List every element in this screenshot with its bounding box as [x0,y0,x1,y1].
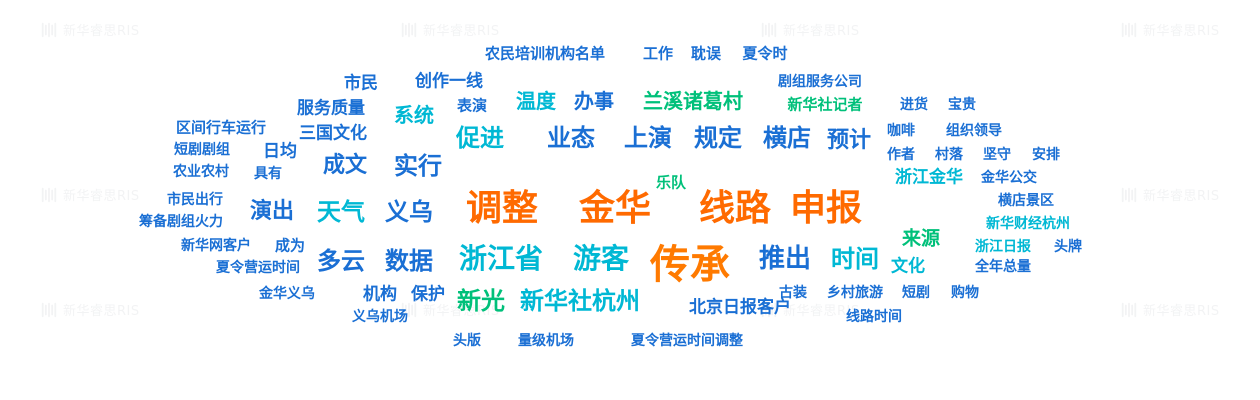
watermark-text: 新华睿思RIS [783,24,860,39]
word-cloud-term[interactable]: 组织领导 [946,124,1002,138]
word-cloud-term[interactable]: 数据 [385,249,433,273]
watermark-mark-icon [40,301,58,319]
word-cloud-term[interactable]: 量级机场 [518,334,574,348]
word-cloud-term[interactable]: 新光 [457,289,505,313]
word-cloud-term[interactable]: 推出 [759,246,811,272]
watermark-text: 新华睿思RIS [423,24,500,39]
watermark-mark-icon [400,21,418,39]
watermark-logo: 新华睿思RIS [760,20,860,39]
word-cloud-term[interactable]: 农业农村 [173,165,229,179]
word-cloud-term[interactable]: 三国文化 [299,126,367,143]
word-cloud-term[interactable]: 横店 [763,126,811,150]
word-cloud-term[interactable]: 服务质量 [297,101,365,118]
word-cloud-term[interactable]: 短剧 [902,286,930,300]
word-cloud-term[interactable]: 金华公交 [981,171,1037,185]
word-cloud-term[interactable]: 夏令时 [742,47,787,62]
word-cloud-term[interactable]: 保护 [411,287,445,304]
watermark-mark-icon [760,21,778,39]
word-cloud-term[interactable]: 创作一线 [415,74,483,91]
word-cloud-term[interactable]: 文化 [891,259,925,276]
word-cloud-term[interactable]: 上演 [624,126,672,150]
word-cloud-term[interactable]: 业态 [547,126,595,150]
word-cloud-term[interactable]: 夏令营运时间调整 [631,334,743,348]
word-cloud-term[interactable]: 天气 [317,200,365,224]
word-cloud-term[interactable]: 温度 [516,91,556,111]
word-cloud-term[interactable]: 宝贵 [948,98,976,112]
watermark-logo: 新华睿思RIS [40,20,140,39]
word-cloud-term[interactable]: 传承 [650,245,730,285]
word-cloud-term[interactable]: 进货 [900,98,928,112]
word-cloud-term[interactable]: 北京日报客户 [689,300,791,317]
word-cloud-term[interactable]: 时间 [831,247,879,271]
word-cloud-term[interactable]: 义乌机场 [352,310,408,324]
word-cloud-term[interactable]: 耽误 [691,47,721,62]
watermark-text: 新华睿思RIS [63,189,140,204]
word-cloud-term[interactable]: 预计 [827,130,871,152]
word-cloud-term[interactable]: 乐队 [656,176,686,191]
watermark-mark-icon [40,186,58,204]
word-cloud-term[interactable]: 成文 [323,155,367,177]
word-cloud-term[interactable]: 浙江日报 [975,240,1031,254]
word-cloud-term[interactable]: 调整 [466,191,538,227]
word-cloud-term[interactable]: 区间行车运行 [176,121,266,136]
watermark-text: 新华睿思RIS [63,304,140,319]
word-cloud-term[interactable]: 金华 [579,191,651,227]
word-cloud-term[interactable]: 多云 [317,249,365,273]
word-cloud-term[interactable]: 剧组服务公司 [778,75,862,89]
watermark-mark-icon [1120,186,1138,204]
word-cloud-term[interactable]: 浙江省 [459,245,543,273]
word-cloud-term[interactable]: 义乌 [385,200,433,224]
word-cloud-term[interactable]: 市民出行 [167,193,223,207]
word-cloud-chart: 新华睿思RIS新华睿思RIS新华睿思RIS新华睿思RIS新华睿思RIS新华睿思R… [0,0,1260,400]
word-cloud-term[interactable]: 头版 [453,334,481,348]
word-cloud-term[interactable]: 申报 [790,191,862,227]
word-cloud-term[interactable]: 咖啡 [887,124,915,138]
word-cloud-term[interactable]: 农民培训机构名单 [485,47,605,62]
word-cloud-term[interactable]: 成为 [275,239,305,254]
word-cloud-term[interactable]: 规定 [694,126,742,150]
word-cloud-term[interactable]: 头牌 [1054,240,1082,254]
watermark-text: 新华睿思RIS [1143,189,1220,204]
word-cloud-term[interactable]: 短剧剧组 [174,143,230,157]
word-cloud-term[interactable]: 机构 [363,287,397,304]
watermark-text: 新华睿思RIS [1143,304,1220,319]
watermark-logo: 新华睿思RIS [40,300,140,319]
word-cloud-term[interactable]: 游客 [573,245,629,273]
word-cloud-term[interactable]: 具有 [254,167,282,181]
word-cloud-term[interactable]: 新华社杭州 [520,289,640,313]
word-cloud-term[interactable]: 金华义乌 [259,287,315,301]
word-cloud-term[interactable]: 实行 [394,154,442,178]
word-cloud-term[interactable]: 工作 [643,47,673,62]
watermark-logo: 新华睿思RIS [40,185,140,204]
watermark-logo: 新华睿思RIS [1120,300,1220,319]
word-cloud-term[interactable]: 表演 [457,99,487,114]
word-cloud-term[interactable]: 新华财经杭州 [986,217,1070,231]
watermark-logo: 新华睿思RIS [1120,20,1220,39]
watermark-mark-icon [40,21,58,39]
word-cloud-term[interactable]: 兰溪诸葛村 [643,91,743,111]
watermark-text: 新华睿思RIS [63,24,140,39]
watermark-logo: 新华睿思RIS [400,20,500,39]
word-cloud-term[interactable]: 购物 [951,286,979,300]
word-cloud-term[interactable]: 市民 [344,76,378,93]
word-cloud-term[interactable]: 筹备剧组火力 [139,215,223,229]
word-cloud-term[interactable]: 来源 [902,230,940,249]
word-cloud-term[interactable]: 演出 [250,201,294,223]
watermark-mark-icon [1120,21,1138,39]
word-cloud-term[interactable]: 全年总量 [975,260,1031,274]
word-cloud-term[interactable]: 村落 [935,148,963,162]
word-cloud-term[interactable]: 新华网客户 [181,239,251,253]
word-cloud-term[interactable]: 办事 [574,91,614,111]
word-cloud-term[interactable]: 线路时间 [846,310,902,324]
watermark-logo: 新华睿思RIS [1120,185,1220,204]
word-cloud-term[interactable]: 夏令营运时间 [216,261,300,275]
word-cloud-term[interactable]: 线路 [699,191,771,227]
word-cloud-term[interactable]: 作者 [887,148,915,162]
word-cloud-term[interactable]: 新华社记者 [787,98,862,113]
word-cloud-term[interactable]: 系统 [394,105,434,125]
watermark-mark-icon [1120,301,1138,319]
word-cloud-term[interactable]: 横店景区 [998,194,1054,208]
word-cloud-term[interactable]: 促进 [456,126,504,150]
word-cloud-term[interactable]: 乡村旅游 [827,286,883,300]
word-cloud-term[interactable]: 坚守 [983,148,1011,162]
word-cloud-term[interactable]: 安排 [1032,148,1060,162]
watermark-text: 新华睿思RIS [1143,24,1220,39]
word-cloud-term[interactable]: 浙江金华 [895,170,963,187]
word-cloud-term[interactable]: 日均 [263,144,297,161]
